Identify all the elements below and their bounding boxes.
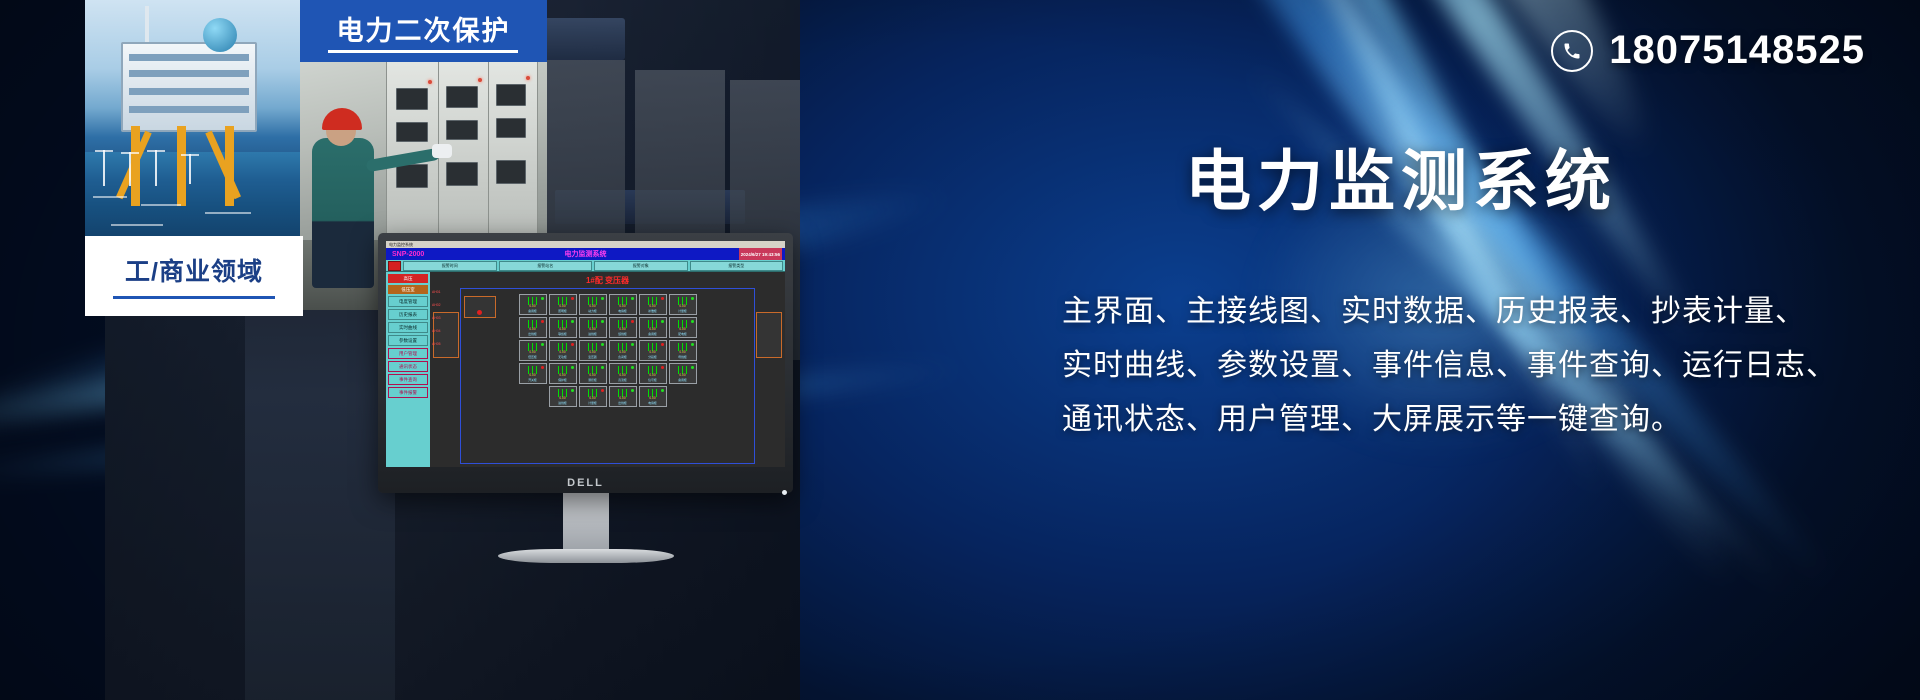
alarm-column-type[interactable]: 报警类型 xyxy=(690,261,784,271)
mimic-row-labels: AH01 AH02 AH03 AH04 AH05 xyxy=(432,290,440,346)
cell-label: 计量柜 xyxy=(670,309,696,313)
cell-status-led xyxy=(691,343,694,346)
cell-status-led xyxy=(601,366,604,369)
mimic-cell[interactable]: 0.00测控柜 xyxy=(579,363,607,384)
cell-label: 备用柜 xyxy=(520,309,546,313)
cell-status-led xyxy=(571,297,574,300)
cell-value: 0.00 xyxy=(580,396,606,400)
row-label: AH01 xyxy=(432,290,440,294)
cell-value: 0.00 xyxy=(550,373,576,377)
cell-label: 进线柜 xyxy=(580,332,606,336)
cell-status-led xyxy=(661,320,664,323)
mimic-cell[interactable]: 0.00分段柜 xyxy=(639,340,667,361)
cell-value: 0.00 xyxy=(550,396,576,400)
cell-label: 开关柜 xyxy=(520,378,546,382)
mimic-cell[interactable]: 0.00进线柜 xyxy=(579,317,607,338)
scada-title-bar: SNP-2000 电力监测系统 2024/6/27 19:43:56 xyxy=(386,248,785,260)
cell-status-led xyxy=(631,343,634,346)
cell-value: 0.00 xyxy=(670,327,696,331)
alarm-column-object[interactable]: 报警对象 xyxy=(594,261,688,271)
cell-label: 分段柜 xyxy=(640,355,666,359)
cell-label: 无功柜 xyxy=(550,355,576,359)
scada-body: 高压 低压室 电度管理 历史报表 实时曲线 参数设置 用户管理 通讯状态 事件查… xyxy=(386,272,785,467)
cell-value: 0.00 xyxy=(550,327,576,331)
mimic-cell[interactable]: 0.00补偿柜 xyxy=(639,294,667,315)
mimic-cell[interactable]: 0.00出线柜 xyxy=(519,317,547,338)
cell-status-led xyxy=(601,297,604,300)
description-line-1: 主界面、主接线图、实时数据、历史报表、抄表计量、 xyxy=(1062,285,1892,339)
cell-status-led xyxy=(541,343,544,346)
mimic-cell[interactable]: 0.00动力柜 xyxy=(579,294,607,315)
mimic-row: 0.00开关柜0.00保护柜0.00测控柜0.00直流柜0.00信号柜0.00备… xyxy=(464,363,751,384)
cell-value: 0.00 xyxy=(580,350,606,354)
cell-value: 0.00 xyxy=(640,373,666,377)
sidebar-item-history-report[interactable]: 历史报表 xyxy=(388,309,428,320)
row-label: AH03 xyxy=(432,316,440,320)
sidebar-item-low-voltage-room[interactable]: 低压室 xyxy=(388,285,428,294)
cell-value: 0.00 xyxy=(520,350,546,354)
scada-mimic-area: 1#配 变压器 AH01 AH02 AH03 AH04 AH05 xyxy=(430,272,785,467)
cell-status-led xyxy=(601,343,604,346)
cell-value: 0.00 xyxy=(580,327,606,331)
scada-alarm-columns[interactable]: 报警时间 报警站名 报警对象 报警类型 xyxy=(386,260,785,272)
row-label: AH05 xyxy=(432,342,440,346)
mimic-cell[interactable]: 0.00变压器 xyxy=(579,340,607,361)
monitor-brand-logo: DELL xyxy=(567,477,604,489)
mimic-cell[interactable]: 0.00进线柜 xyxy=(549,386,577,407)
monitor-stand-neck xyxy=(563,493,609,555)
mimic-cell[interactable]: 0.00配电柜 xyxy=(669,317,697,338)
cell-value: 0.00 xyxy=(640,396,666,400)
mimic-cell[interactable]: 0.00电容柜 xyxy=(639,386,667,407)
cell-value: 0.00 xyxy=(580,304,606,308)
cell-status-led xyxy=(631,366,634,369)
cell-value: 0.00 xyxy=(580,373,606,377)
cell-value: 0.00 xyxy=(640,327,666,331)
cell-label: 进线柜 xyxy=(550,401,576,405)
cell-status-led xyxy=(571,389,574,392)
safety-helmet xyxy=(322,108,362,130)
cell-value: 0.00 xyxy=(670,373,696,377)
description-line-2: 实时曲线、参数设置、事件信息、事件查询、运行日志、 xyxy=(1062,339,1892,393)
cell-label: 测控柜 xyxy=(580,378,606,382)
monitor-bezel: 电力监控系统 SNP-2000 电力监测系统 2024/6/27 19:43:5… xyxy=(378,233,793,493)
description-line-3: 通讯状态、用户管理、大屏展示等一键查询。 xyxy=(1062,393,1892,447)
cell-value: 0.00 xyxy=(670,304,696,308)
row-label: AH04 xyxy=(432,329,440,333)
cell-status-led xyxy=(571,366,574,369)
mimic-cell[interactable]: 0.00信号柜 xyxy=(639,363,667,384)
mimic-cell[interactable]: 0.00计量柜 xyxy=(669,294,697,315)
cell-label: 直流柜 xyxy=(610,378,636,382)
blue-label-card: 电力二次保护 xyxy=(300,0,547,62)
cell-status-led xyxy=(631,389,634,392)
cell-value: 0.00 xyxy=(610,396,636,400)
cell-status-led xyxy=(661,389,664,392)
phone-icon xyxy=(1551,30,1593,72)
cell-status-led xyxy=(691,366,694,369)
cell-label: 联络柜 xyxy=(550,332,576,336)
cell-status-led xyxy=(661,343,664,346)
blue-card-label: 电力二次保护 xyxy=(300,9,547,48)
cell-value: 0.00 xyxy=(640,304,666,308)
feature-description: 主界面、主接线图、实时数据、历史报表、抄表计量、 实时曲线、参数设置、事件信息、… xyxy=(1062,285,1892,447)
mimic-diagram-title: 1#配 变压器 xyxy=(430,275,785,286)
cell-status-led xyxy=(631,320,634,323)
cell-value: 0.00 xyxy=(610,304,636,308)
cell-status-led xyxy=(631,297,634,300)
cell-status-led xyxy=(601,320,604,323)
mimic-row: 0.00出线柜0.00联络柜0.00进线柜0.00馈线柜0.00备用柜0.00配… xyxy=(464,317,751,338)
mimic-cell[interactable]: 0.00母线柜 xyxy=(669,340,697,361)
radar-dome xyxy=(203,18,237,52)
mimic-cell[interactable]: 0.00备用柜 xyxy=(669,363,697,384)
cell-label: 负荷柜 xyxy=(610,355,636,359)
cell-value: 0.00 xyxy=(640,350,666,354)
offshore-platform-photo xyxy=(85,0,303,245)
cell-label: 变压器 xyxy=(580,355,606,359)
scada-window-caption: 电力监控系统 xyxy=(386,241,785,248)
mimic-cell[interactable]: 0.00备用柜 xyxy=(519,294,547,315)
cell-status-led xyxy=(601,389,604,392)
cell-value: 0.00 xyxy=(610,350,636,354)
cell-label: 计量柜 xyxy=(580,401,606,405)
sidebar-item-realtime-curve[interactable]: 实时曲线 xyxy=(388,322,428,333)
mimic-row: 0.00低压柜0.00无功柜0.00变压器0.00负荷柜0.00分段柜0.00母… xyxy=(464,340,751,361)
scada-sidebar[interactable]: 高压 低压室 电度管理 历史报表 实时曲线 参数设置 用户管理 通讯状态 事件查… xyxy=(386,272,430,467)
mimic-row: 0.00备用柜0.00照明柜0.00动力柜0.00电容柜0.00补偿柜0.00计… xyxy=(464,294,751,315)
sidebar-item-event-query[interactable]: 事件查询 xyxy=(388,374,428,385)
cell-status-led xyxy=(691,320,694,323)
phone-number: 18075148525 xyxy=(1609,28,1865,73)
cell-value: 0.00 xyxy=(550,350,576,354)
cell-value: 0.00 xyxy=(550,304,576,308)
cell-label: 电容柜 xyxy=(640,401,666,405)
cell-value: 0.00 xyxy=(520,304,546,308)
cell-label: 配电柜 xyxy=(670,332,696,336)
blue-card-underline xyxy=(328,50,518,53)
mimic-cell[interactable]: 0.00照明柜 xyxy=(549,294,577,315)
alarm-indicator[interactable] xyxy=(388,261,401,271)
mimic-cell[interactable]: 0.00负荷柜 xyxy=(609,340,637,361)
mimic-cell[interactable]: 0.00计量柜 xyxy=(579,386,607,407)
row-label: AH02 xyxy=(432,303,440,307)
cell-label: 照明柜 xyxy=(550,309,576,313)
sidebar-item-event-alarm[interactable]: 事件报警 xyxy=(388,387,428,398)
mimic-cell-grid: 0.00备用柜0.00照明柜0.00动力柜0.00电容柜0.00补偿柜0.00计… xyxy=(464,294,751,407)
scada-header-title: 电力监测系统 xyxy=(565,249,607,259)
cell-label: 补偿柜 xyxy=(640,309,666,313)
white-label-card: 工/商业领域 xyxy=(85,236,303,316)
cell-label: 备用柜 xyxy=(640,332,666,336)
cell-value: 0.00 xyxy=(610,327,636,331)
alarm-column-station[interactable]: 报警站名 xyxy=(499,261,593,271)
mimic-cell[interactable]: 0.00馈线柜 xyxy=(609,317,637,338)
mimic-cell[interactable]: 0.00无功柜 xyxy=(549,340,577,361)
mimic-cell[interactable]: 0.00备用柜 xyxy=(639,317,667,338)
sidebar-item-parameter-settings[interactable]: 参数设置 xyxy=(388,335,428,346)
mimic-cell[interactable]: 0.00联络柜 xyxy=(549,317,577,338)
cell-value: 0.00 xyxy=(520,327,546,331)
sidebar-item-energy-management[interactable]: 电度管理 xyxy=(388,296,428,307)
operator-body xyxy=(312,138,374,288)
cell-value: 0.00 xyxy=(520,373,546,377)
contact-phone[interactable]: 18075148525 xyxy=(1551,28,1865,73)
cell-label: 母线柜 xyxy=(670,355,696,359)
platform-deck xyxy=(121,42,257,132)
banner-root: 电力二次保护 工/商业领域 电力监控系统 SNP-2000 电力监测系统 202… xyxy=(0,0,1920,700)
monitor: 电力监控系统 SNP-2000 电力监测系统 2024/6/27 19:43:5… xyxy=(378,233,793,493)
scada-clock: 2024/6/27 19:43:56 xyxy=(739,248,782,260)
cell-status-led xyxy=(541,366,544,369)
sidebar-item-high-voltage[interactable]: 高压 xyxy=(388,274,428,283)
alarm-column-time[interactable]: 报警时间 xyxy=(403,261,497,271)
mimic-cell[interactable]: 0.00出线柜 xyxy=(609,386,637,407)
cell-label: 备用柜 xyxy=(670,378,696,382)
monitor-screen: 电力监控系统 SNP-2000 电力监测系统 2024/6/27 19:43:5… xyxy=(386,241,785,467)
white-card-label: 工/商业领域 xyxy=(85,252,303,288)
mimic-row: 0.00进线柜0.00计量柜0.00出线柜0.00电容柜 xyxy=(464,386,751,407)
cell-status-led xyxy=(541,320,544,323)
sidebar-item-user-management[interactable]: 用户管理 xyxy=(388,348,428,359)
white-card-underline xyxy=(113,296,275,299)
mimic-cell[interactable]: 0.00直流柜 xyxy=(609,363,637,384)
cell-value: 0.00 xyxy=(670,350,696,354)
sea-surface xyxy=(85,152,303,245)
cell-value: 0.00 xyxy=(610,373,636,377)
cell-label: 信号柜 xyxy=(640,378,666,382)
mimic-cell[interactable]: 0.00低压柜 xyxy=(519,340,547,361)
cell-status-led xyxy=(571,320,574,323)
mimic-cell[interactable]: 0.00保护柜 xyxy=(549,363,577,384)
operator-glove xyxy=(432,144,452,158)
scada-system-name: SNP-2000 xyxy=(392,251,424,258)
cell-label: 出线柜 xyxy=(520,332,546,336)
right-feeder-group[interactable] xyxy=(756,312,782,358)
sidebar-item-comm-status[interactable]: 通讯状态 xyxy=(388,361,428,372)
cell-label: 动力柜 xyxy=(580,309,606,313)
cell-status-led xyxy=(571,343,574,346)
mimic-cell[interactable]: 0.00开关柜 xyxy=(519,363,547,384)
cell-label: 保护柜 xyxy=(550,378,576,382)
cell-status-led xyxy=(691,297,694,300)
cell-label: 电容柜 xyxy=(610,309,636,313)
mimic-cell[interactable]: 0.00电容柜 xyxy=(609,294,637,315)
monitor-stand-base xyxy=(498,549,674,563)
cell-label: 低压柜 xyxy=(520,355,546,359)
page-title: 电力监测系统 xyxy=(1185,128,1617,224)
cell-status-led xyxy=(541,297,544,300)
cell-label: 馈线柜 xyxy=(610,332,636,336)
monitor-power-led xyxy=(782,490,787,495)
cell-status-led xyxy=(661,297,664,300)
cell-label: 出线柜 xyxy=(610,401,636,405)
cell-status-led xyxy=(661,366,664,369)
